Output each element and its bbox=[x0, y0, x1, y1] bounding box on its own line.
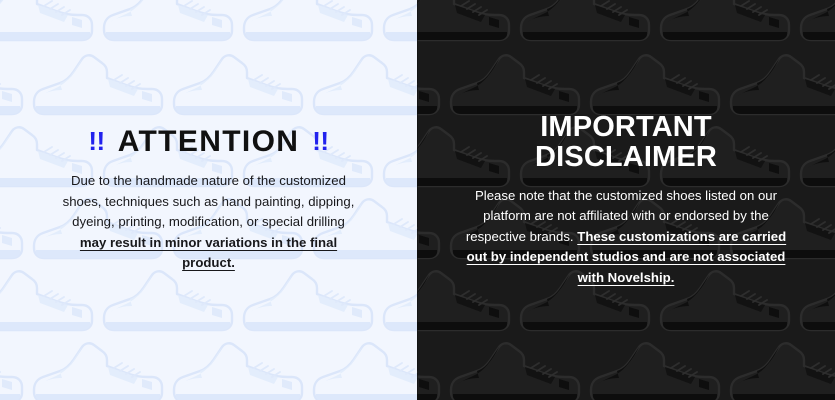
attention-body: Due to the handmade nature of the custom… bbox=[59, 171, 359, 273]
attention-content: !! ATTENTION !! Due to the handmade natu… bbox=[0, 0, 417, 400]
disclaimer-panel: IMPORTANT DISCLAIMER Please note that th… bbox=[417, 0, 835, 400]
attention-body-normal: Due to the handmade nature of the custom… bbox=[63, 173, 355, 229]
disclaimer-body: Please note that the customized shoes li… bbox=[465, 186, 787, 288]
attention-heading-text: ATTENTION bbox=[118, 127, 300, 158]
disclaimer-content: IMPORTANT DISCLAIMER Please note that th… bbox=[417, 0, 835, 400]
customization-notice-banner: !! ATTENTION !! Due to the handmade natu… bbox=[0, 0, 835, 400]
attention-heading: !! ATTENTION !! bbox=[88, 127, 328, 158]
exclamation-right-icon: !! bbox=[312, 128, 328, 155]
exclamation-left-icon: !! bbox=[88, 128, 104, 155]
disclaimer-heading: IMPORTANT DISCLAIMER bbox=[535, 112, 717, 172]
disclaimer-heading-line1: IMPORTANT bbox=[535, 112, 717, 142]
disclaimer-heading-line2: DISCLAIMER bbox=[535, 142, 717, 172]
attention-panel: !! ATTENTION !! Due to the handmade natu… bbox=[0, 0, 417, 400]
attention-body-emphasis: may result in minor variations in the fi… bbox=[80, 235, 337, 270]
